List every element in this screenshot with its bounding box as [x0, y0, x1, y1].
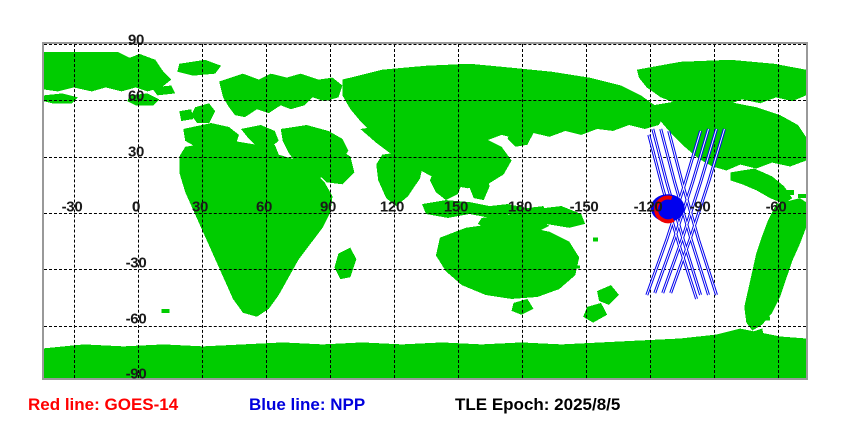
x-tick-label: -120: [634, 200, 663, 215]
y-tick-label: 0: [132, 200, 140, 215]
legend-red-line: Red line: GOES-14: [28, 396, 178, 413]
x-tick-label: 60: [256, 200, 272, 215]
x-tick-label: -90: [690, 200, 711, 215]
legend-blue-line: Blue line: NPP: [249, 396, 365, 413]
x-tick-label: 120: [380, 200, 404, 215]
x-tick-label: 180: [508, 200, 532, 215]
x-tick-label: 90: [320, 200, 336, 215]
x-tick-label: 30: [192, 200, 208, 215]
x-tick-label: -60: [766, 200, 787, 215]
x-tick-label: 150: [444, 200, 468, 215]
x-tick-label: -150: [570, 200, 599, 215]
y-tick-label: 90: [128, 33, 144, 48]
y-tick-label: 30: [128, 145, 144, 160]
satellite-groundtrack-figure: -30 0 30 60 90 120 150 180 -150 -120 -90…: [0, 0, 850, 425]
y-tick-label: -30: [126, 256, 147, 271]
y-tick-label: -90: [126, 367, 147, 382]
y-tick-label: -60: [126, 312, 147, 327]
x-tick-label: -30: [62, 200, 83, 215]
figure-legend: Red line: GOES-14 Blue line: NPP TLE Epo…: [0, 390, 850, 420]
y-tick-label: 60: [128, 89, 144, 104]
legend-tle-epoch: TLE Epoch: 2025/8/5: [455, 396, 620, 413]
